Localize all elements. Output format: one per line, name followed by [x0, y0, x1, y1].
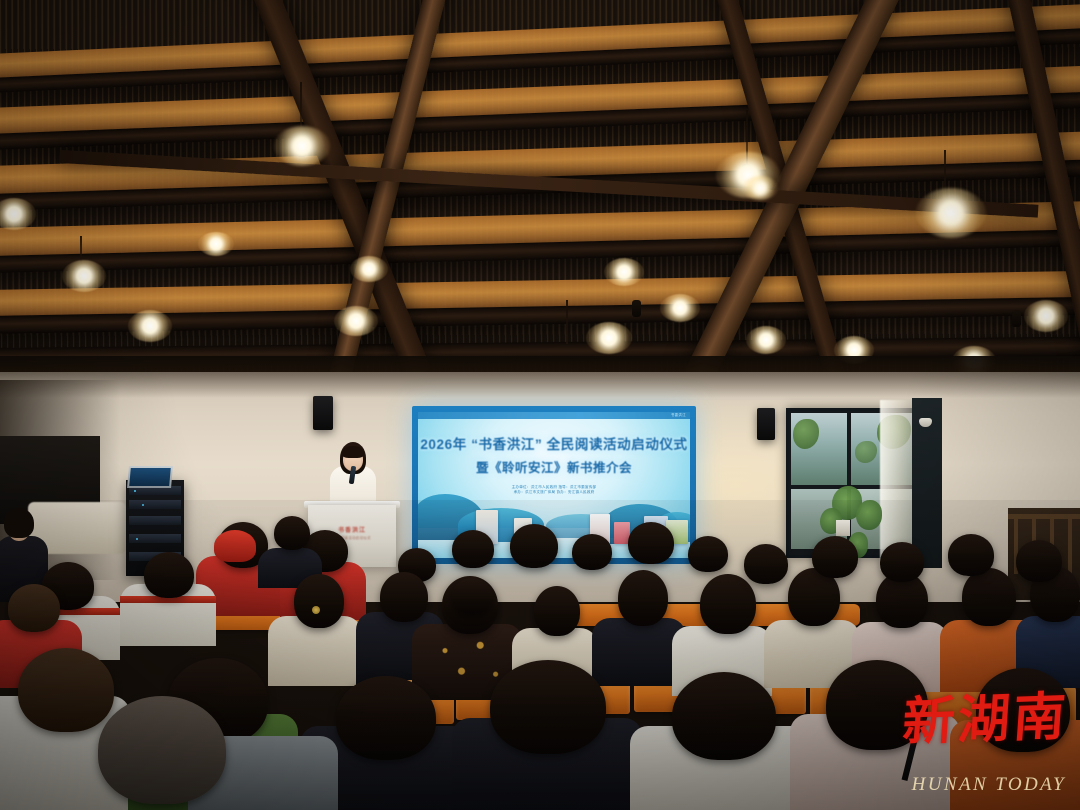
audience-head	[510, 524, 558, 568]
audience-head	[144, 552, 194, 598]
audience-head	[98, 696, 226, 804]
audience-head	[628, 522, 674, 564]
lamp-rod	[300, 82, 302, 144]
pa-speaker-left	[313, 396, 333, 430]
audience-head	[534, 586, 580, 636]
audience-head	[672, 672, 776, 760]
audience-red-hat	[214, 530, 256, 562]
hair-accessory	[312, 606, 320, 614]
laptop[interactable]	[127, 466, 173, 488]
audience-head	[8, 584, 60, 632]
audience-head	[744, 544, 788, 584]
audience-head	[1016, 540, 1062, 582]
audience-head	[452, 530, 494, 568]
photo-scene: 书香洪江 2026年 “书香洪江” 全民阅读活动启动仪式 暨《聆听安江》新书推介…	[0, 0, 1080, 810]
laptop-screen	[129, 468, 171, 486]
wooden-ceiling	[0, 0, 1080, 392]
audience-head	[490, 660, 606, 754]
lamp-rod	[566, 300, 568, 344]
audience-head	[976, 668, 1070, 752]
slide-title-line1: 2026年 “书香洪江” 全民阅读活动启动仪式	[418, 436, 690, 453]
audience-head	[452, 578, 492, 614]
audience-seating	[0, 500, 1080, 810]
audience-head	[948, 534, 994, 576]
audience-head	[380, 572, 428, 622]
audience-head	[688, 536, 728, 572]
audience-head	[880, 542, 924, 582]
lamp-rod	[746, 110, 748, 168]
audience-head	[336, 676, 436, 760]
pa-speaker-right	[757, 408, 775, 440]
track-light-head	[632, 300, 641, 317]
audience-head	[962, 568, 1016, 626]
audience-head	[572, 534, 612, 570]
audience-head	[18, 648, 114, 732]
lamp-rod	[944, 150, 946, 206]
slide-top-bar: 书香洪江	[418, 412, 690, 419]
audience-head	[274, 516, 310, 550]
rack-led	[134, 490, 136, 492]
slide-top-bar-label: 书香洪江	[671, 412, 686, 417]
slide-title-line2: 暨《聆听安江》新书推介会	[418, 457, 690, 476]
track-light-head	[941, 202, 950, 219]
audience-head	[618, 570, 668, 626]
audience-head	[700, 574, 756, 634]
audience-head	[294, 574, 344, 628]
track-light-head	[742, 164, 751, 181]
wall-shadow	[0, 372, 1080, 398]
track-light-head	[1012, 310, 1021, 327]
track-light-head	[297, 140, 306, 157]
lamp-rod	[80, 236, 82, 276]
presenter-hair-fringe	[342, 446, 364, 458]
audience-head	[812, 536, 858, 578]
